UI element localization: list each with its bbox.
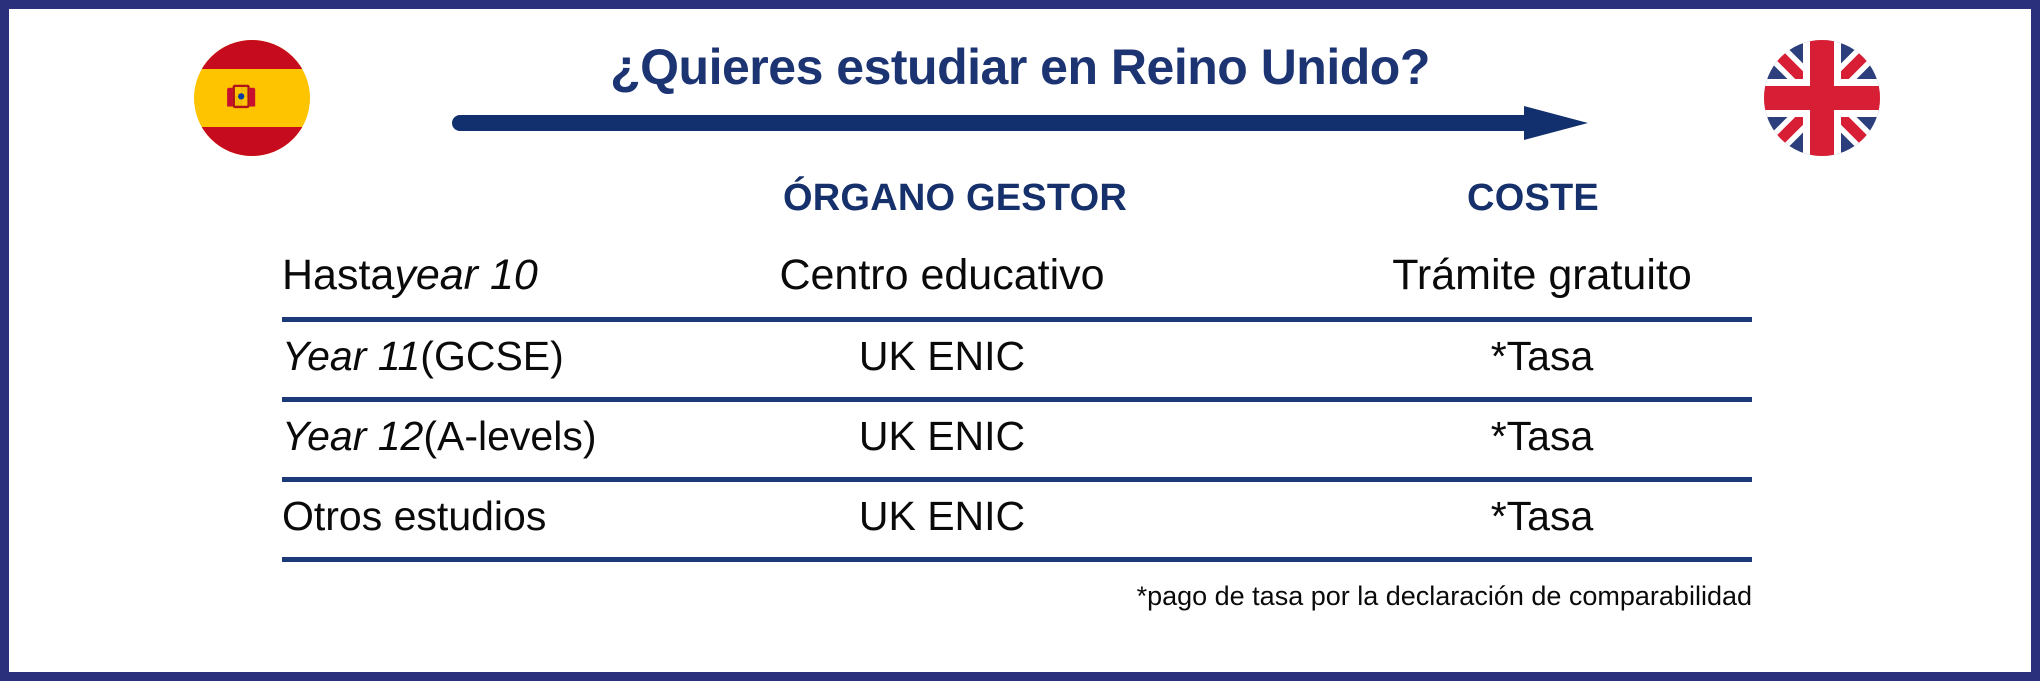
table-cell-coste: Trámite gratuito <box>1332 240 1752 311</box>
label-tail: (GCSE) <box>420 336 564 377</box>
infographic-canvas: ¿Quieres estudiar en Reino Unido? ÓRGANO… <box>0 0 2040 681</box>
column-header-coste: COSTE <box>1333 177 1733 220</box>
table-cell-label: Year 12 (A-levels) <box>282 402 632 471</box>
label-italic: Year 12 <box>282 416 423 457</box>
label-plain: Otros estudios <box>282 496 546 537</box>
comparison-table: Hasta year 10 Centro educativo Trámite g… <box>282 240 1752 562</box>
table-row: Year 12 (A-levels) UK ENIC *Tasa <box>282 402 1752 482</box>
footnote-text: *pago de tasa por la declaración de comp… <box>700 581 1752 612</box>
table-cell-organo: Centro educativo <box>652 240 1232 311</box>
table-cell-organo: UK ENIC <box>652 322 1232 391</box>
label-italic: Year 11 <box>282 336 420 377</box>
page-title: ¿Quieres estudiar en Reino Unido? <box>420 38 1620 96</box>
table-cell-organo: UK ENIC <box>652 482 1232 551</box>
table-row: Hasta year 10 Centro educativo Trámite g… <box>282 240 1752 322</box>
column-header-organo-gestor: ÓRGANO GESTOR <box>655 177 1255 220</box>
spain-flag-icon <box>194 40 310 156</box>
table-cell-label: Year 11 (GCSE) <box>282 322 632 391</box>
label-tail: (A-levels) <box>423 416 596 457</box>
table-cell-coste: *Tasa <box>1332 482 1752 551</box>
label-plain: Hasta <box>282 254 394 297</box>
table-row: Year 11 (GCSE) UK ENIC *Tasa <box>282 322 1752 402</box>
table-row: Otros estudios UK ENIC *Tasa <box>282 482 1752 562</box>
table-cell-organo: UK ENIC <box>652 402 1232 471</box>
table-cell-coste: *Tasa <box>1332 322 1752 391</box>
table-cell-label: Hasta year 10 <box>282 240 632 311</box>
table-cell-label: Otros estudios <box>282 482 632 551</box>
table-cell-coste: *Tasa <box>1332 402 1752 471</box>
label-italic: year 10 <box>394 254 537 297</box>
united-kingdom-flag-icon <box>1764 40 1880 156</box>
right-arrow-icon <box>450 104 1592 142</box>
